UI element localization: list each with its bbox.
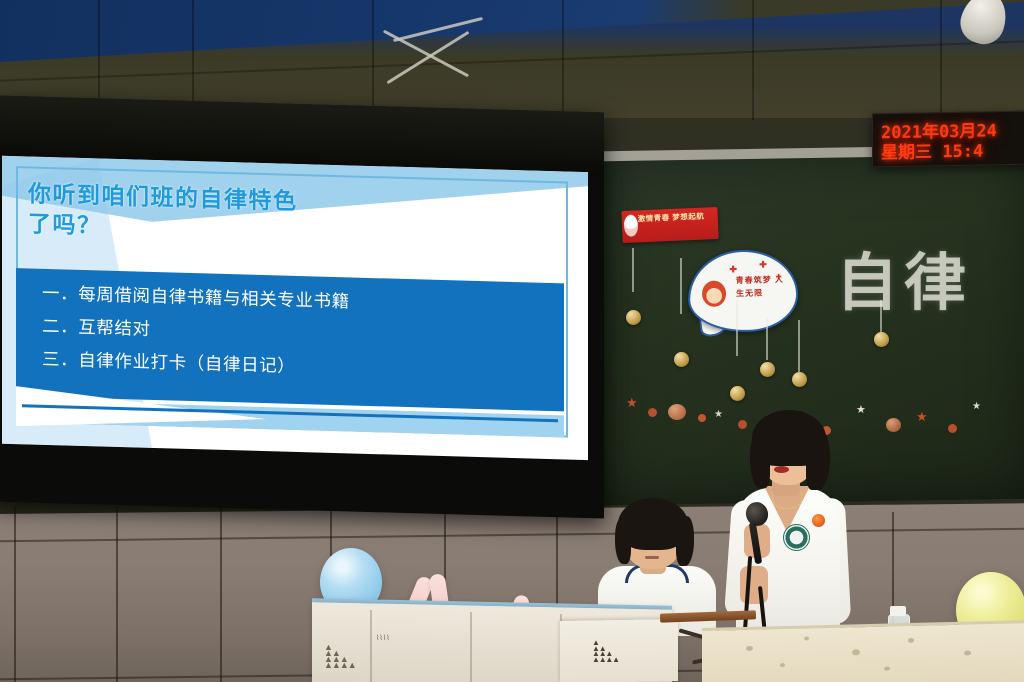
bauble-ornament — [760, 362, 775, 377]
garland-dot — [738, 420, 747, 429]
table-speck — [780, 663, 785, 667]
led-time-line: 星期三 15:4 — [881, 135, 1024, 163]
tile-line — [220, 506, 222, 682]
mascot-face-icon — [702, 280, 727, 307]
star-icon: ★ — [626, 396, 638, 409]
laptop[interactable] — [560, 619, 678, 682]
banner-mascot-icon — [624, 214, 639, 237]
red-banner: 激情青春 梦想起航 — [621, 207, 718, 243]
speaker-mouth — [774, 466, 789, 473]
bottle-cap — [890, 606, 906, 616]
podium-seam — [470, 612, 472, 682]
cloud-text: 青春筑梦 人生无限 — [736, 273, 793, 300]
bauble-ornament — [874, 332, 889, 347]
garland-bead — [668, 404, 686, 420]
chalk-text: 自律 — [836, 232, 972, 322]
speaker-hair-left — [750, 430, 770, 488]
garland-bead — [886, 418, 901, 432]
classroom-scene: 自律 激情青春 梦想起航 ✚ ✚ ✚ 青春筑梦 人生无限 ★ ★ ★ ★ ★ ★… — [0, 0, 1024, 682]
bauble-string — [880, 300, 882, 334]
bauble-ornament — [730, 386, 745, 401]
front-table — [702, 620, 1024, 682]
speaker-hair-right — [806, 428, 830, 490]
podium-ornament-icon: ▲▲▲▲▲▲▲▲▲▲ — [324, 644, 356, 668]
table-speck — [804, 636, 809, 640]
projector-screen: 你听到咱们班的自律特色 了吗？ 一．每周借阅自律书籍与相关专业书籍 二．互帮结对… — [0, 95, 604, 518]
wall-seam — [940, 0, 942, 120]
podium-seam — [370, 610, 372, 682]
slide-bullet-list: 一．每周借阅自律书籍与相关专业书籍 二．互帮结对 三．自律作业打卡（自律日记） — [42, 277, 552, 390]
table-speck — [964, 650, 971, 655]
red-banner-text: 激情青春 梦想起航 — [637, 210, 713, 224]
bauble-ornament — [792, 372, 807, 387]
operator-mouth — [645, 556, 659, 559]
table-speck — [746, 646, 753, 651]
operator-hair-right — [676, 516, 694, 566]
bauble-string — [766, 318, 768, 360]
operator-hair-left — [615, 518, 631, 564]
table-speck — [908, 638, 914, 643]
bauble-ornament — [674, 352, 689, 367]
garland-dot — [698, 414, 706, 422]
speaker-emblem-badge — [783, 524, 810, 551]
table-speck — [884, 666, 890, 670]
sparkle-icon: ✚ — [759, 259, 767, 270]
garland-dot — [948, 424, 957, 433]
garland-dot — [648, 408, 657, 417]
bauble-string — [680, 258, 682, 314]
table-speck — [852, 649, 860, 655]
bauble-string — [736, 300, 738, 356]
presentation-slide: 你听到咱们班的自律特色 了吗？ 一．每周借阅自律书籍与相关专业书籍 二．互帮结对… — [2, 156, 588, 460]
bauble-ornament — [626, 310, 641, 325]
slide-body-panel: 一．每周借阅自律书籍与相关专业书籍 二．互帮结对 三．自律作业打卡（自律日记） — [16, 268, 564, 411]
star-icon: ★ — [972, 400, 981, 413]
bauble-string — [632, 248, 634, 292]
wall-seam — [752, 0, 754, 120]
star-icon: ★ — [856, 404, 866, 417]
bauble-string — [798, 320, 800, 372]
star-icon: ★ — [714, 408, 723, 421]
star-icon: ★ — [916, 410, 928, 423]
laptop-logo-icon: ▲▲▲▲▲▲▲▲▲▲ — [592, 640, 619, 662]
wall-seam — [372, 0, 374, 120]
led-clock-display: 2021年03月24 星期三 15:4 — [872, 111, 1024, 168]
tile-line — [14, 506, 16, 682]
speaker-pin-badge — [812, 514, 825, 527]
tile-line — [116, 506, 118, 682]
podium-ornament-icon: ⌇⌇⌇⌇ — [376, 636, 390, 642]
